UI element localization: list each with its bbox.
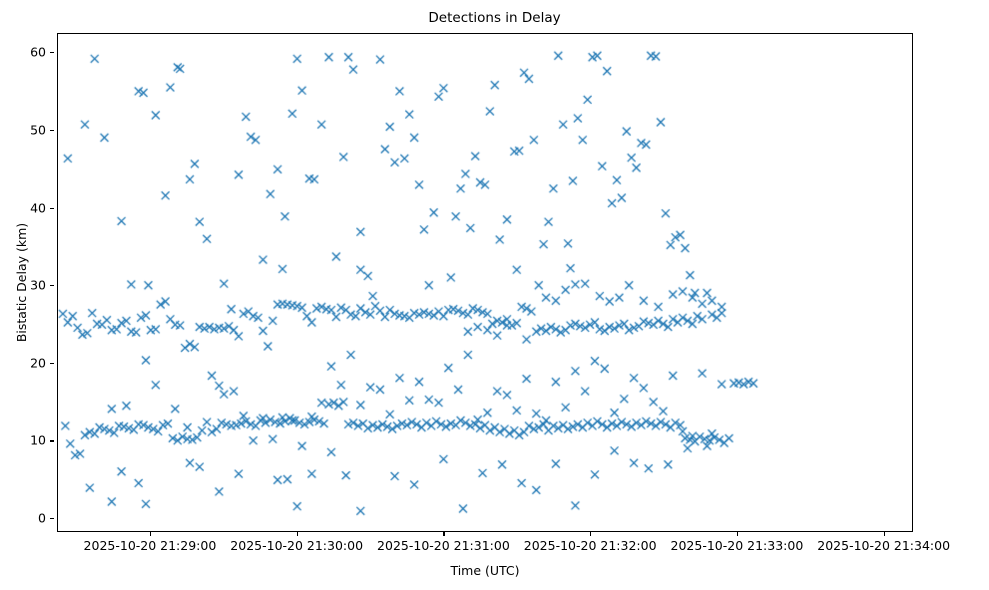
x-tick-mark xyxy=(443,532,444,536)
scatter-plot-area[interactable] xyxy=(58,34,912,531)
x-tick-label: 2025-10-20 21:34:00 xyxy=(817,538,950,553)
x-axis-tick-labels: 2025-10-20 21:29:002025-10-20 21:30:0020… xyxy=(57,532,913,558)
y-tick-mark xyxy=(50,440,54,441)
plot-axes xyxy=(57,33,913,532)
y-tick-mark xyxy=(50,285,54,286)
y-tick-mark xyxy=(50,208,54,209)
x-tick-mark xyxy=(737,532,738,536)
x-tick-label: 2025-10-20 21:30:00 xyxy=(230,538,363,553)
x-tick-mark xyxy=(297,532,298,536)
figure-canvas: Detections in Delay 0102030405060 2025-1… xyxy=(0,0,989,590)
y-tick-mark xyxy=(50,130,54,131)
y-tick-mark xyxy=(50,52,54,53)
x-tick-label: 2025-10-20 21:31:00 xyxy=(377,538,510,553)
x-tick-label: 2025-10-20 21:33:00 xyxy=(671,538,804,553)
x-tick-mark xyxy=(150,532,151,536)
x-tick-label: 2025-10-20 21:29:00 xyxy=(84,538,217,553)
y-tick-mark xyxy=(50,518,54,519)
page-title: Detections in Delay xyxy=(0,10,989,26)
y-tick-label: 0 xyxy=(38,511,46,526)
x-tick-mark xyxy=(590,532,591,536)
x-tick-label: 2025-10-20 21:32:00 xyxy=(524,538,657,553)
x-tick-mark xyxy=(884,532,885,536)
x-axis-label: Time (UTC) xyxy=(57,563,913,578)
y-axis-label: Bistatic Delay (km) xyxy=(14,33,34,532)
y-tick-mark xyxy=(50,363,54,364)
